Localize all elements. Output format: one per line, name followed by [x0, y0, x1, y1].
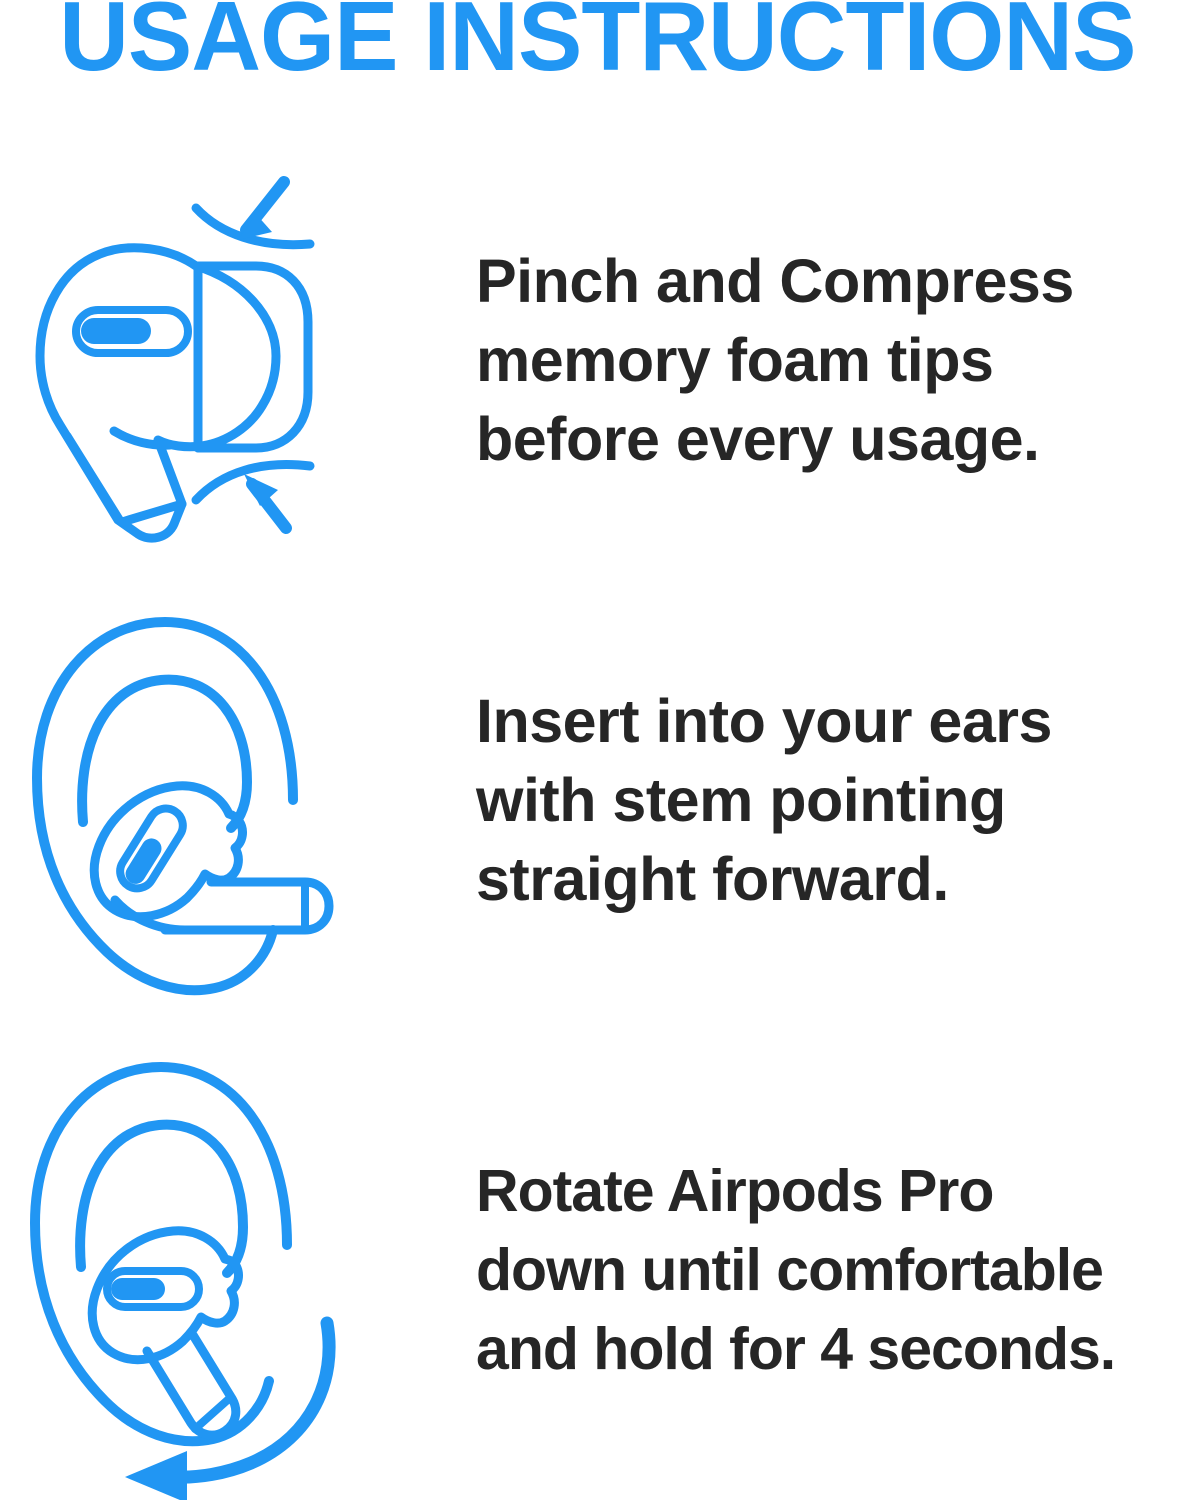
step-2-text: Insert into your ears with stem pointing…	[458, 682, 1195, 919]
instruction-step-3: Rotate Airpods Pro down until comfortabl…	[0, 1040, 1195, 1500]
step-1-text: Pinch and Compress memory foam tips befo…	[458, 242, 1195, 479]
instruction-step-1: Pinch and Compress memory foam tips befo…	[0, 160, 1195, 560]
step-2-line-1: Insert into your ears	[476, 682, 1185, 761]
airpod-pinch-foam-tip-icon	[10, 170, 410, 550]
step-1-line-3: before every usage.	[476, 400, 1185, 479]
step-2-line-3: straight forward.	[476, 840, 1185, 919]
usage-instructions-page: USAGE INSTRUCTIONS	[0, 0, 1195, 1500]
rotate-arrow-head	[125, 1451, 187, 1500]
instruction-step-2: Insert into your ears with stem pointing…	[0, 590, 1195, 1010]
step-2-figure	[0, 600, 400, 1000]
step-1-line-1: Pinch and Compress	[476, 242, 1185, 321]
ear-insert-airpod-icon	[15, 600, 385, 1000]
step-2-line-2: with stem pointing	[476, 761, 1185, 840]
step-3-figure	[0, 1045, 400, 1495]
page-title: USAGE INSTRUCTIONS	[59, 0, 1135, 85]
step-3-line-2: down until comfortable	[476, 1231, 1185, 1310]
page-header: USAGE INSTRUCTIONS	[0, 0, 1195, 84]
step-1-figure	[0, 165, 420, 555]
step-3-text: Rotate Airpods Pro down until comfortabl…	[458, 1152, 1195, 1389]
step-3-line-3: and hold for 4 seconds.	[476, 1310, 1185, 1389]
step-3-line-1: Rotate Airpods Pro	[476, 1152, 1185, 1231]
step-1-line-2: memory foam tips	[476, 321, 1185, 400]
ear-rotate-airpod-icon	[15, 1045, 385, 1495]
